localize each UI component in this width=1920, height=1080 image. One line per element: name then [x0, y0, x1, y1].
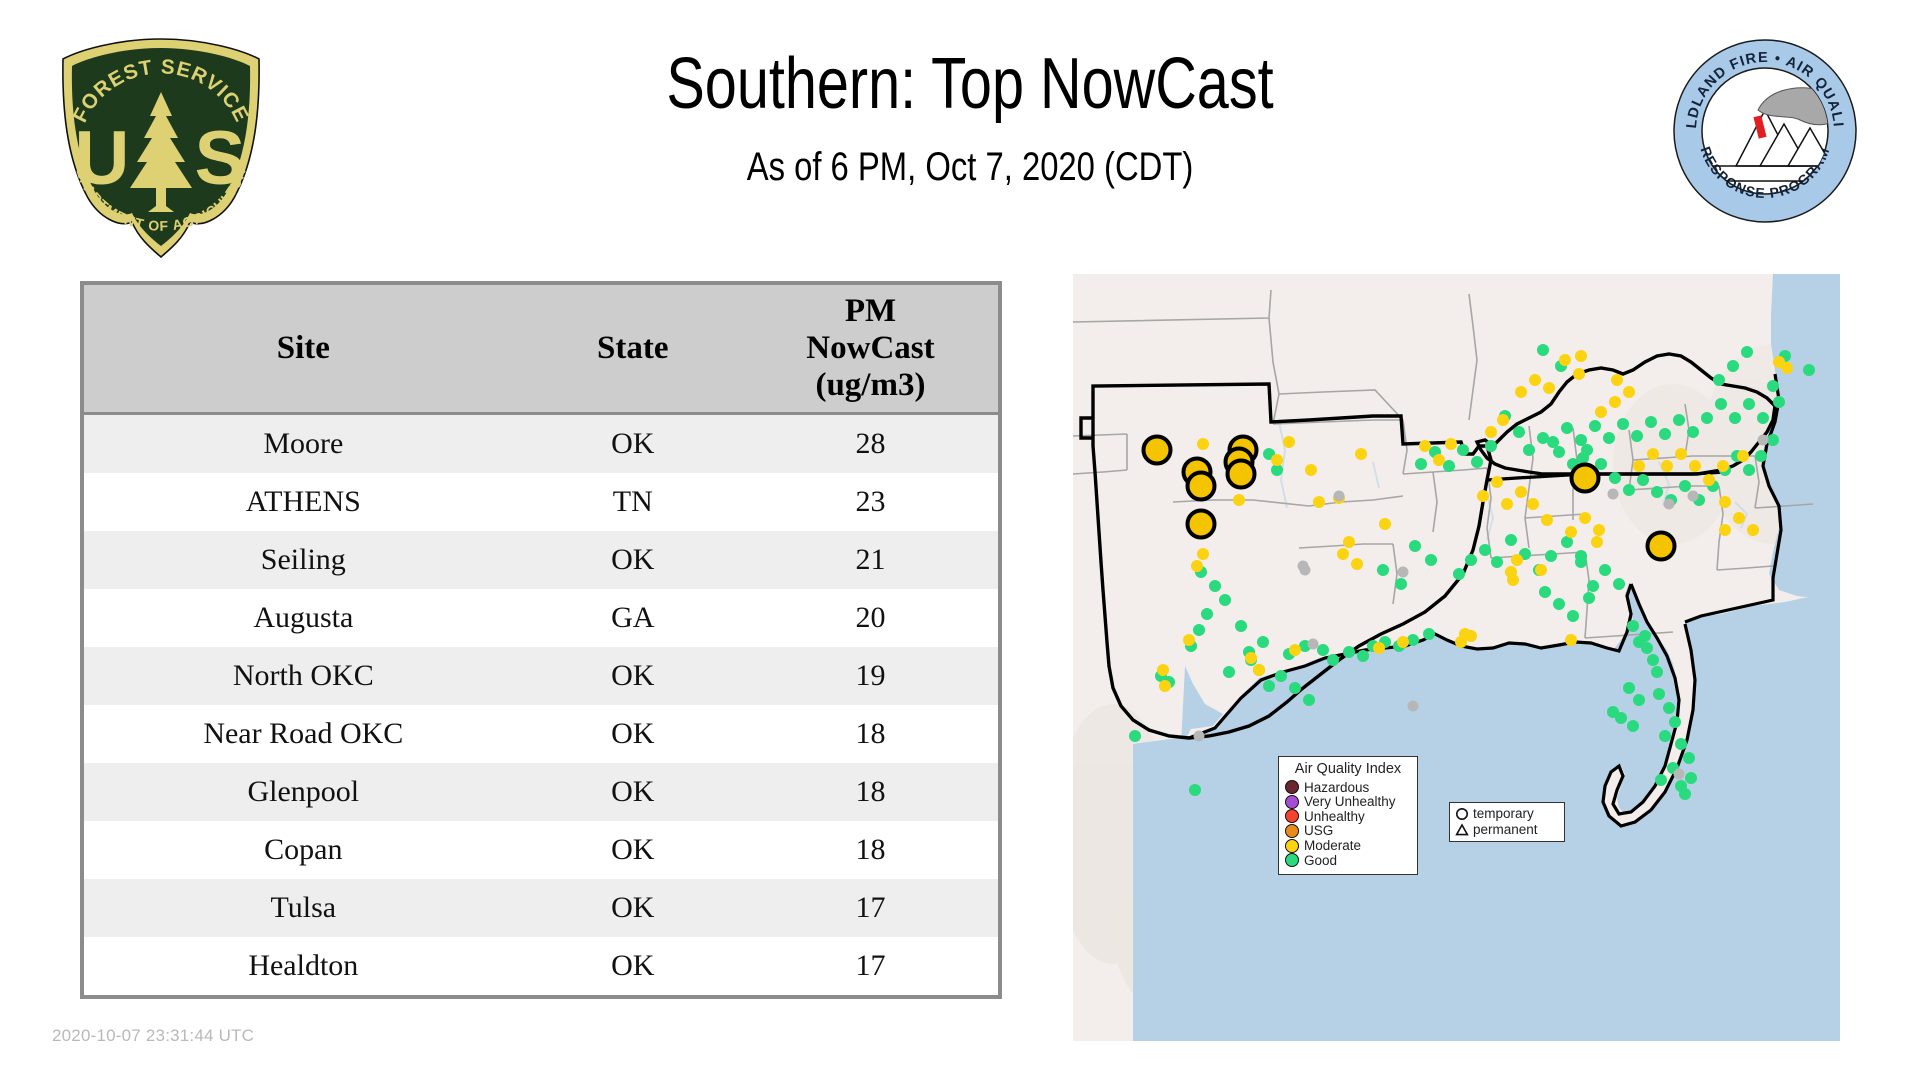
cell-site: North OKC	[82, 647, 523, 705]
cell-value: 18	[743, 763, 1000, 821]
aqi-legend-item-hazardous: Hazardous	[1285, 780, 1411, 795]
cell-state: OK	[523, 647, 743, 705]
aqi-label-unhealthy: Unhealthy	[1304, 810, 1365, 824]
top-site-marker-athens[interactable]	[1572, 465, 1599, 492]
top-site-marker-glenpool[interactable]	[1228, 461, 1255, 488]
top-site-marker-panhandle[interactable]	[1144, 437, 1171, 464]
title-block: Southern: Top NowCast As of 6 PM, Oct 7,…	[280, 48, 1660, 190]
cell-value: 28	[743, 414, 1000, 474]
cell-value: 21	[743, 531, 1000, 589]
aqi-label-very-unhealthy: Very Unhealthy	[1304, 795, 1396, 809]
cell-site: Copan	[82, 821, 523, 879]
aqi-swatch-good	[1285, 853, 1299, 867]
monitor-type-item-temporary: temporary	[1455, 806, 1559, 822]
table-row: ATHENSTN23	[82, 473, 1000, 531]
usfs-shield-logo: FOREST SERVICE DEPARTMENT OF AGRICULTURE…	[52, 36, 270, 258]
cell-state: OK	[523, 414, 743, 474]
header-line: State	[597, 330, 668, 366]
usfs-letter-u: U	[75, 116, 130, 201]
aqi-label-good: Good	[1304, 854, 1337, 868]
usfs-letter-s: S	[195, 116, 246, 201]
aqi-legend-item-usg: USG	[1285, 824, 1411, 839]
monitor-type-legend: temporary permanent	[1449, 802, 1565, 842]
aqi-swatch-moderate	[1285, 839, 1299, 853]
cell-state: TN	[523, 473, 743, 531]
map-canvas[interactable]	[1073, 274, 1840, 1041]
cell-site: Glenpool	[82, 763, 523, 821]
cell-site: ATHENS	[82, 473, 523, 531]
cell-value: 18	[743, 705, 1000, 763]
cell-value: 17	[743, 937, 1000, 997]
aqi-swatch-unhealthy	[1285, 809, 1299, 823]
column-header-state: State	[523, 283, 743, 414]
cell-state: OK	[523, 705, 743, 763]
aqi-swatch-usg	[1285, 824, 1299, 838]
column-header-site: Site	[82, 283, 523, 414]
table-row: AugustaGA20	[82, 589, 1000, 647]
top-nowcast-table: Site State PM NowCast (ug/m3) MooreOK28 …	[80, 281, 1002, 999]
cell-value: 20	[743, 589, 1000, 647]
header-line: Site	[277, 330, 330, 366]
table-row: SeilingOK21	[82, 531, 1000, 589]
aqi-legend-item-unhealthy: Unhealthy	[1285, 809, 1411, 824]
cell-value: 19	[743, 647, 1000, 705]
table-row: HealdtonOK17	[82, 937, 1000, 997]
aqi-legend-item-very-unhealthy: Very Unhealthy	[1285, 795, 1411, 810]
cell-site: Augusta	[82, 589, 523, 647]
wfaqrp-seal-logo: WILDLAND FIRE • AIR QUALITY RESPONSE PRO…	[1672, 38, 1858, 224]
aqi-label-moderate: Moderate	[1304, 839, 1361, 853]
cell-value: 23	[743, 473, 1000, 531]
monitor-type-label-temporary: temporary	[1473, 807, 1534, 821]
column-header-pm-nowcast: PM NowCast (ug/m3)	[743, 283, 1000, 414]
table-body: MooreOK28 ATHENSTN23 SeilingOK21 Augusta…	[82, 414, 1000, 998]
top-site-marker-augusta[interactable]	[1648, 533, 1675, 560]
aqi-swatch-hazardous	[1285, 780, 1299, 794]
table-row: MooreOK28	[82, 414, 1000, 474]
triangle-outline-icon	[1455, 823, 1469, 837]
generation-timestamp: 2020-10-07 23:31:44 UTC	[52, 1026, 254, 1046]
cell-value: 17	[743, 879, 1000, 937]
cell-site: Moore	[82, 414, 523, 474]
aqi-legend-item-moderate: Moderate	[1285, 838, 1411, 853]
table-header-row: Site State PM NowCast (ug/m3)	[82, 283, 1000, 414]
cell-state: OK	[523, 763, 743, 821]
aqi-swatch-very-unhealthy	[1285, 795, 1299, 809]
aqi-legend: Air Quality Index Hazardous Very Unhealt…	[1278, 756, 1418, 875]
top-site-marker-healdton[interactable]	[1188, 511, 1215, 538]
header-line: (ug/m3)	[815, 367, 925, 403]
table-row: CopanOK18	[82, 821, 1000, 879]
aqi-legend-item-good: Good	[1285, 853, 1411, 868]
table-row: Near Road OKCOK18	[82, 705, 1000, 763]
cell-value: 18	[743, 821, 1000, 879]
cell-state: OK	[523, 879, 743, 937]
table-row: TulsaOK17	[82, 879, 1000, 937]
cell-state: OK	[523, 531, 743, 589]
cell-state: OK	[523, 821, 743, 879]
page-title: Southern: Top NowCast	[418, 48, 1522, 121]
cell-site: Near Road OKC	[82, 705, 523, 763]
top-site-marker-near-road-okc[interactable]	[1188, 473, 1215, 500]
circle-outline-icon	[1455, 807, 1469, 821]
header-line: PM	[845, 293, 896, 329]
header-line: NowCast	[806, 330, 934, 366]
cell-state: OK	[523, 937, 743, 997]
table-row: GlenpoolOK18	[82, 763, 1000, 821]
page-subtitle: As of 6 PM, Oct 7, 2020 (CDT)	[404, 145, 1536, 190]
cell-site: Seiling	[82, 531, 523, 589]
aqi-label-usg: USG	[1304, 824, 1333, 838]
aqi-legend-title: Air Quality Index	[1285, 761, 1411, 777]
cell-state: GA	[523, 589, 743, 647]
air-quality-map[interactable]	[1073, 274, 1840, 1041]
table-head: Site State PM NowCast (ug/m3)	[82, 283, 1000, 414]
cell-site: Tulsa	[82, 879, 523, 937]
monitor-type-item-permanent: permanent	[1455, 822, 1559, 838]
cell-site: Healdton	[82, 937, 523, 997]
table-row: North OKCOK19	[82, 647, 1000, 705]
monitor-type-label-permanent: permanent	[1473, 823, 1538, 837]
top-nowcast-table-wrap: Site State PM NowCast (ug/m3) MooreOK28 …	[80, 281, 1002, 999]
aqi-label-hazardous: Hazardous	[1304, 781, 1369, 795]
